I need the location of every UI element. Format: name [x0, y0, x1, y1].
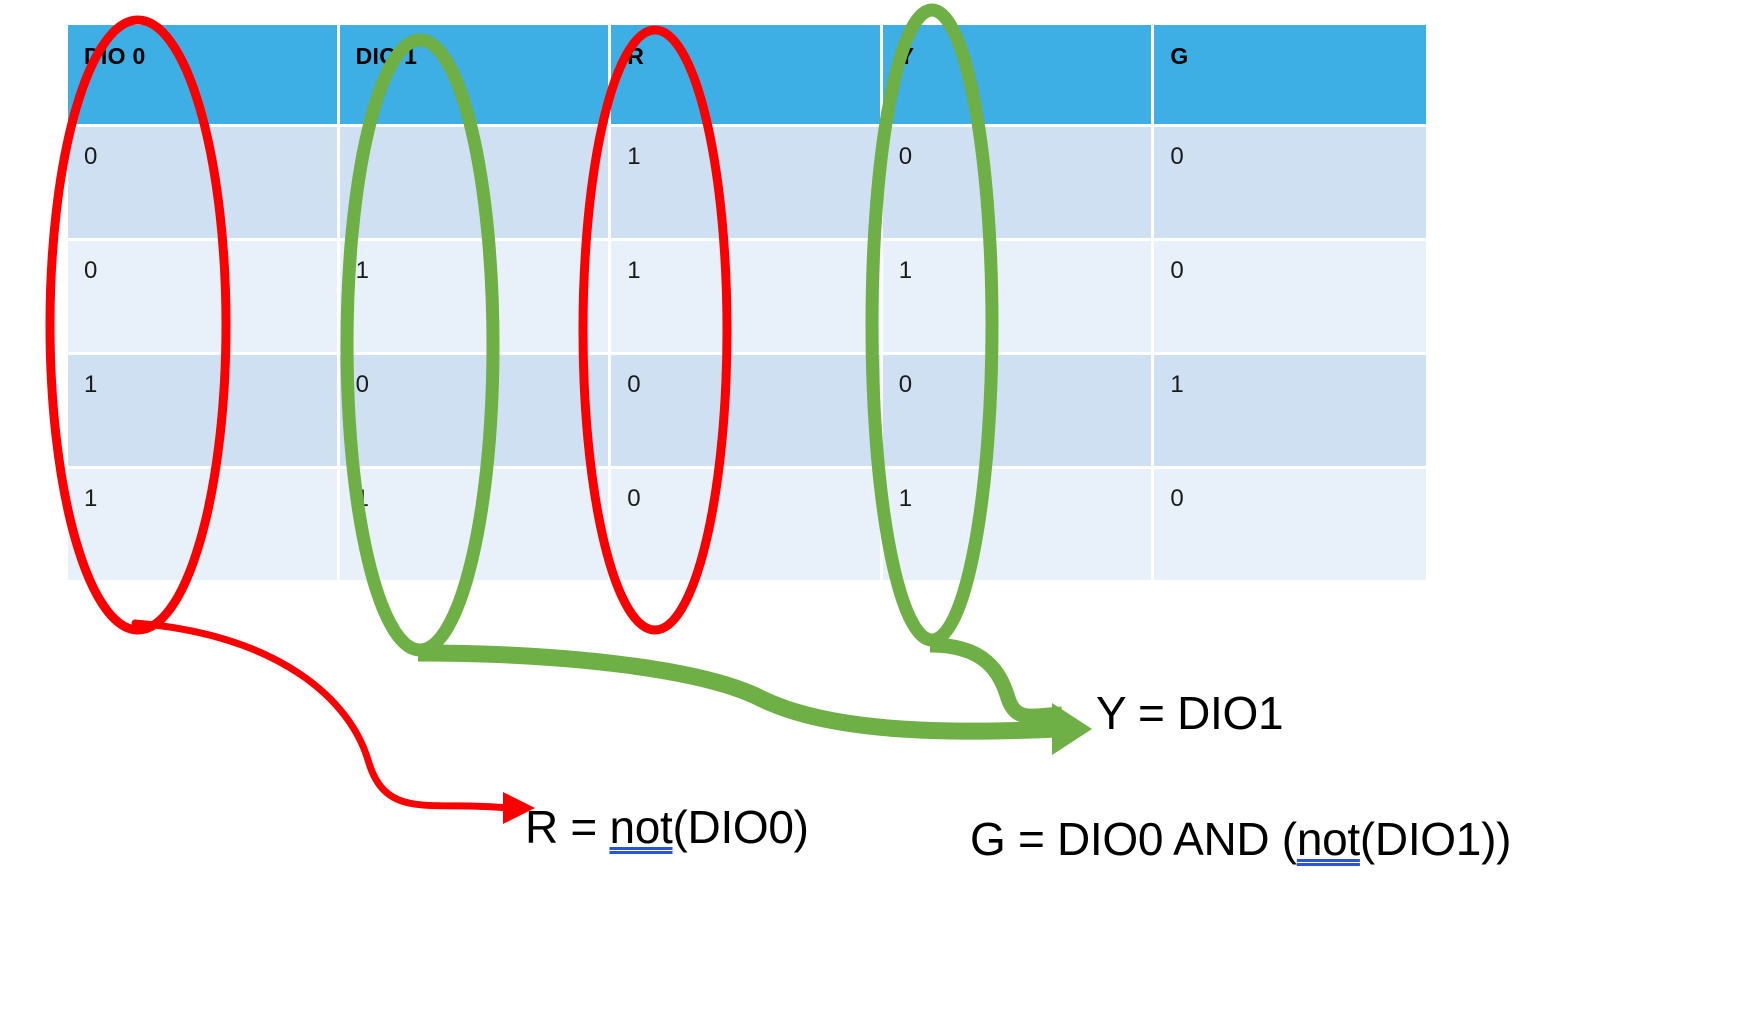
table-header: DIO 0 DIO 1 R Y G: [68, 25, 1426, 124]
cell-dio0: 1: [68, 466, 340, 580]
red-arrow-to-r-formula: [135, 623, 535, 824]
callout-r-before: R =: [525, 801, 609, 853]
column-header-g: G: [1154, 25, 1426, 124]
callout-y-formula: Y = DIO1: [1096, 686, 1283, 740]
cell-r: 0: [611, 466, 883, 580]
column-header-dio0: DIO 0: [68, 25, 340, 124]
cell-g: 0: [1154, 466, 1426, 580]
cell-g: 0: [1154, 124, 1426, 238]
column-header-y: Y: [883, 25, 1155, 124]
cell-dio1: 0: [340, 352, 612, 466]
table-row: 1 1 0 1 0: [68, 466, 1426, 580]
cell-r: 1: [611, 124, 883, 238]
callout-g-after: (DIO1)): [1360, 813, 1511, 865]
cell-g: 0: [1154, 238, 1426, 352]
table-row: 0 0 1 0 0: [68, 124, 1426, 238]
cell-dio0: 0: [68, 124, 340, 238]
callout-y-text: Y = DIO1: [1096, 687, 1283, 739]
table-row: 0 1 1 1 0: [68, 238, 1426, 352]
slide-canvas: DIO 0 DIO 1 R Y G 0 0 1 0 0 0 1 1 1 0: [0, 0, 1756, 1027]
cell-dio0: 1: [68, 352, 340, 466]
column-header-dio1: DIO 1: [340, 25, 612, 124]
cell-dio1: 1: [340, 238, 612, 352]
cell-y: 0: [883, 352, 1155, 466]
table-row: 1 0 0 0 1: [68, 352, 1426, 466]
cell-dio1: 1: [340, 466, 612, 580]
table-header-row: DIO 0 DIO 1 R Y G: [68, 25, 1426, 124]
cell-y: 1: [883, 466, 1155, 580]
cell-r: 1: [611, 238, 883, 352]
column-header-r: R: [611, 25, 883, 124]
cell-g: 1: [1154, 352, 1426, 466]
callout-g-before: G = DIO0 AND (: [970, 813, 1297, 865]
green-arrow-from-y: [930, 645, 1062, 716]
green-arrow-from-dio1: [418, 653, 1092, 755]
table-body: 0 0 1 0 0 0 1 1 1 0 1 0 0 0 1 1: [68, 124, 1426, 580]
cell-y: 0: [883, 124, 1155, 238]
cell-dio0: 0: [68, 238, 340, 352]
callout-g-spellcheck-word: not: [1297, 813, 1360, 865]
callout-g-formula: G = DIO0 AND (not(DIO1)): [970, 812, 1511, 866]
cell-dio1: 0: [340, 124, 612, 238]
callout-r-after: (DIO0): [673, 801, 809, 853]
cell-y: 1: [883, 238, 1155, 352]
truth-table: DIO 0 DIO 1 R Y G 0 0 1 0 0 0 1 1 1 0: [68, 25, 1426, 580]
callout-r-formula: R = not(DIO0): [525, 800, 809, 854]
callout-r-spellcheck-word: not: [609, 801, 672, 853]
cell-r: 0: [611, 352, 883, 466]
